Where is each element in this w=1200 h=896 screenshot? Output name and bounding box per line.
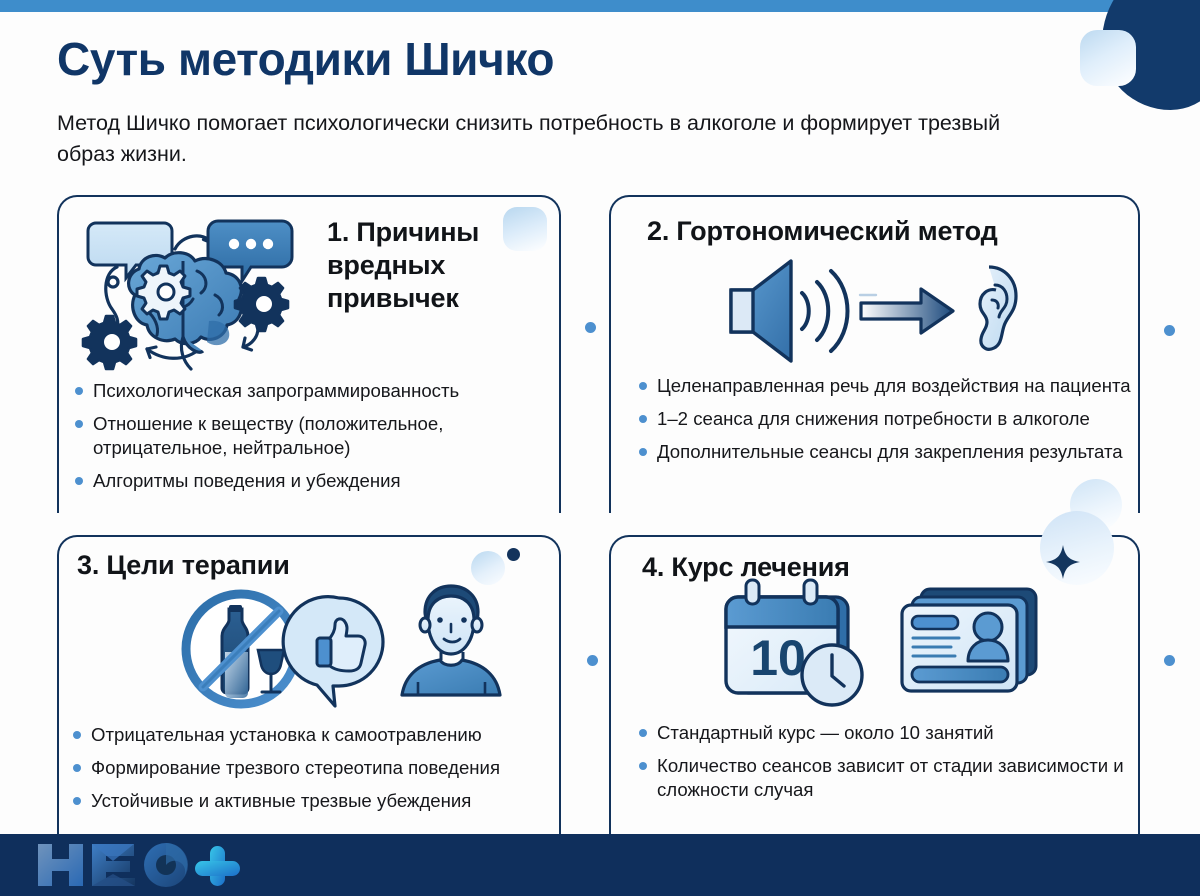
card4-stem-dot (1164, 655, 1175, 666)
list-item: Дополнительные сеансы для закрепления ре… (637, 440, 1138, 464)
list-item: Отрицательная установка к самоотравлению (71, 723, 559, 747)
speaker-arrow-ear-icon (703, 255, 1033, 367)
brain-gears-speech-bubbles-icon (79, 209, 309, 379)
neo-plus-logo (34, 840, 254, 890)
infographic-root: Суть методики Шичко Метод Шичко помогает… (0, 0, 1200, 896)
list-item: Стандартный курс — около 10 занятий (637, 721, 1138, 745)
list-item: Устойчивые и активные трезвые убеждения (71, 789, 559, 813)
card-heading-3: 3. Цели терапии (77, 549, 290, 582)
card-bullets-4: Стандартный курс — около 10 занятий Коли… (611, 721, 1138, 811)
card3-circle-decoration (471, 551, 505, 585)
card2-stem-dot (1164, 325, 1175, 336)
card-gortonomic-method: 2. Гортономический метод (609, 195, 1140, 513)
footer-bar (0, 834, 1200, 896)
list-item: Количество сеансов зависит от стадии зав… (637, 754, 1138, 802)
corner-square-decoration (1080, 30, 1136, 86)
list-item: Формирование трезвого стереотипа поведен… (71, 756, 559, 780)
calendar-clock-cards-icon: 10 (716, 575, 1056, 715)
no-alcohol-thumbsup-person-icon (179, 582, 519, 717)
list-item: Алгоритмы поведения и убеждения (73, 469, 559, 493)
top-accent-bar (0, 0, 1200, 12)
calendar-day-number: 10 (750, 630, 806, 686)
card-heading-1: 1. Причины вредных привычек (327, 216, 547, 315)
list-item: Психологическая запрограммированность (73, 379, 559, 403)
sparkle-icon (1046, 545, 1080, 579)
card-bullets-1: Психологическая запрограммированность От… (59, 379, 559, 502)
card-treatment-course: 4. Курс лечения (609, 535, 1140, 835)
page-subtitle: Метод Шичко помогает психологически сниз… (57, 108, 1057, 170)
list-item: Отношение к веществу (положительное, отр… (73, 412, 559, 460)
card-causes: 1. Причины вредных привычек Психологичес… (57, 195, 561, 513)
card3-dot-decoration (507, 548, 520, 561)
card1-stem-dot (585, 322, 596, 333)
list-item: 1–2 сеанса для снижения потребности в ал… (637, 407, 1138, 431)
card-therapy-goals: 3. Цели терапии (57, 535, 561, 835)
card-heading-2: 2. Гортономический метод (647, 215, 998, 248)
card-bullets-2: Целенаправленная речь для воздействия на… (611, 374, 1138, 473)
page-title: Суть методики Шичко (57, 32, 554, 86)
card3-stem-dot (587, 655, 598, 666)
card-bullets-3: Отрицательная установка к самоотравлению… (59, 723, 559, 822)
list-item: Целенаправленная речь для воздействия на… (637, 374, 1138, 398)
